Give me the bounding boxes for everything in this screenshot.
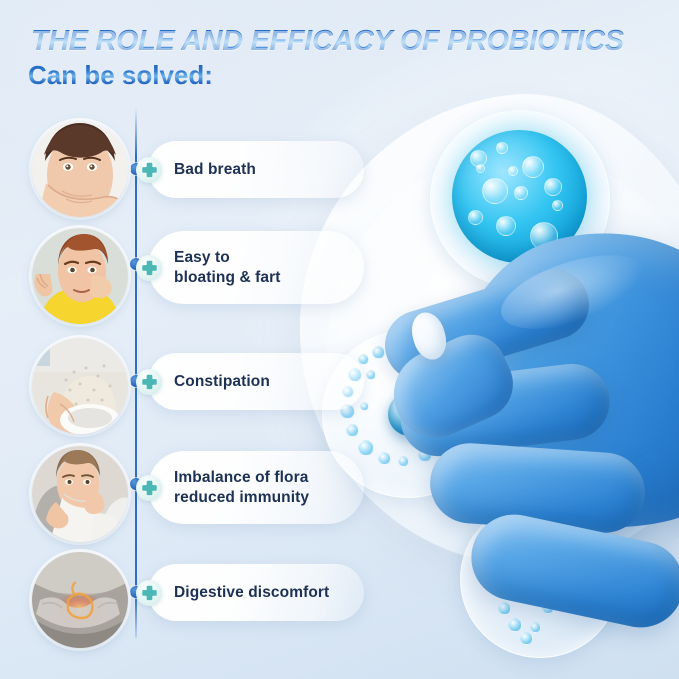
bubble [498,602,511,615]
plus-circle-icon [136,580,162,606]
timeline-pill-label: Constipation [174,372,270,391]
timeline-axis [135,108,137,638]
symptom-photo-bad-breath [32,121,128,217]
bubble [530,622,541,633]
symptom-photo-bloating [32,228,128,324]
bubble [358,440,374,456]
plus-circle-icon [136,369,162,395]
plus-circle-icon [136,157,162,183]
timeline-pill-immunity[interactable]: Imbalance of flora reduced immunity [148,451,364,524]
timeline-pill-bad-breath[interactable]: Bad breath [148,141,364,198]
bubble [360,402,369,411]
timeline-pill-digestive[interactable]: Digestive discomfort [148,564,364,621]
bubble [496,216,516,236]
bubble [358,354,369,365]
bubble [520,632,533,645]
bubble [366,370,376,380]
bubble [346,424,359,437]
bubble [522,156,544,178]
bubble [476,164,485,173]
bubble [508,166,518,176]
symptom-photo-digestive [32,552,128,648]
bubble [468,210,483,225]
woman-pinching-nose-photo [32,228,128,324]
timeline-pill-bloating[interactable]: Easy to bloating & fart [148,231,364,304]
woman-blowing-nose-photo [32,446,128,542]
bubble [372,346,385,359]
bubble [544,178,562,196]
bubble [482,178,508,204]
symptom-photo-constipation [32,338,128,434]
page-title: THE ROLE AND EFFICACY OF PROBIOTICS [31,27,624,56]
bubble [514,186,528,200]
plus-circle-icon [136,475,162,501]
page-subtitle: Can be solved: [28,62,213,88]
timeline-pill-constipation[interactable]: Constipation [148,353,364,410]
timeline-pill-label: Digestive discomfort [174,583,329,602]
symptom-photo-immunity [32,446,128,542]
woman-covering-mouth-photo [32,121,128,217]
plus-circle-icon [136,255,162,281]
timeline-pill-label: Bad breath [174,160,256,179]
bubble [552,200,563,211]
bubble [508,618,522,632]
timeline-pill-label: Imbalance of flora reduced immunity [174,468,309,507]
person-on-toilet-photo [32,338,128,434]
timeline-pill-label: Easy to bloating & fart [174,248,281,287]
bubble [496,142,508,154]
bubble [378,452,391,465]
infographic-canvas: THE ROLE AND EFFICACY OF PROBIOTICS Can … [0,0,679,679]
stomach-ache-photo [32,552,128,648]
bubble [398,456,409,467]
